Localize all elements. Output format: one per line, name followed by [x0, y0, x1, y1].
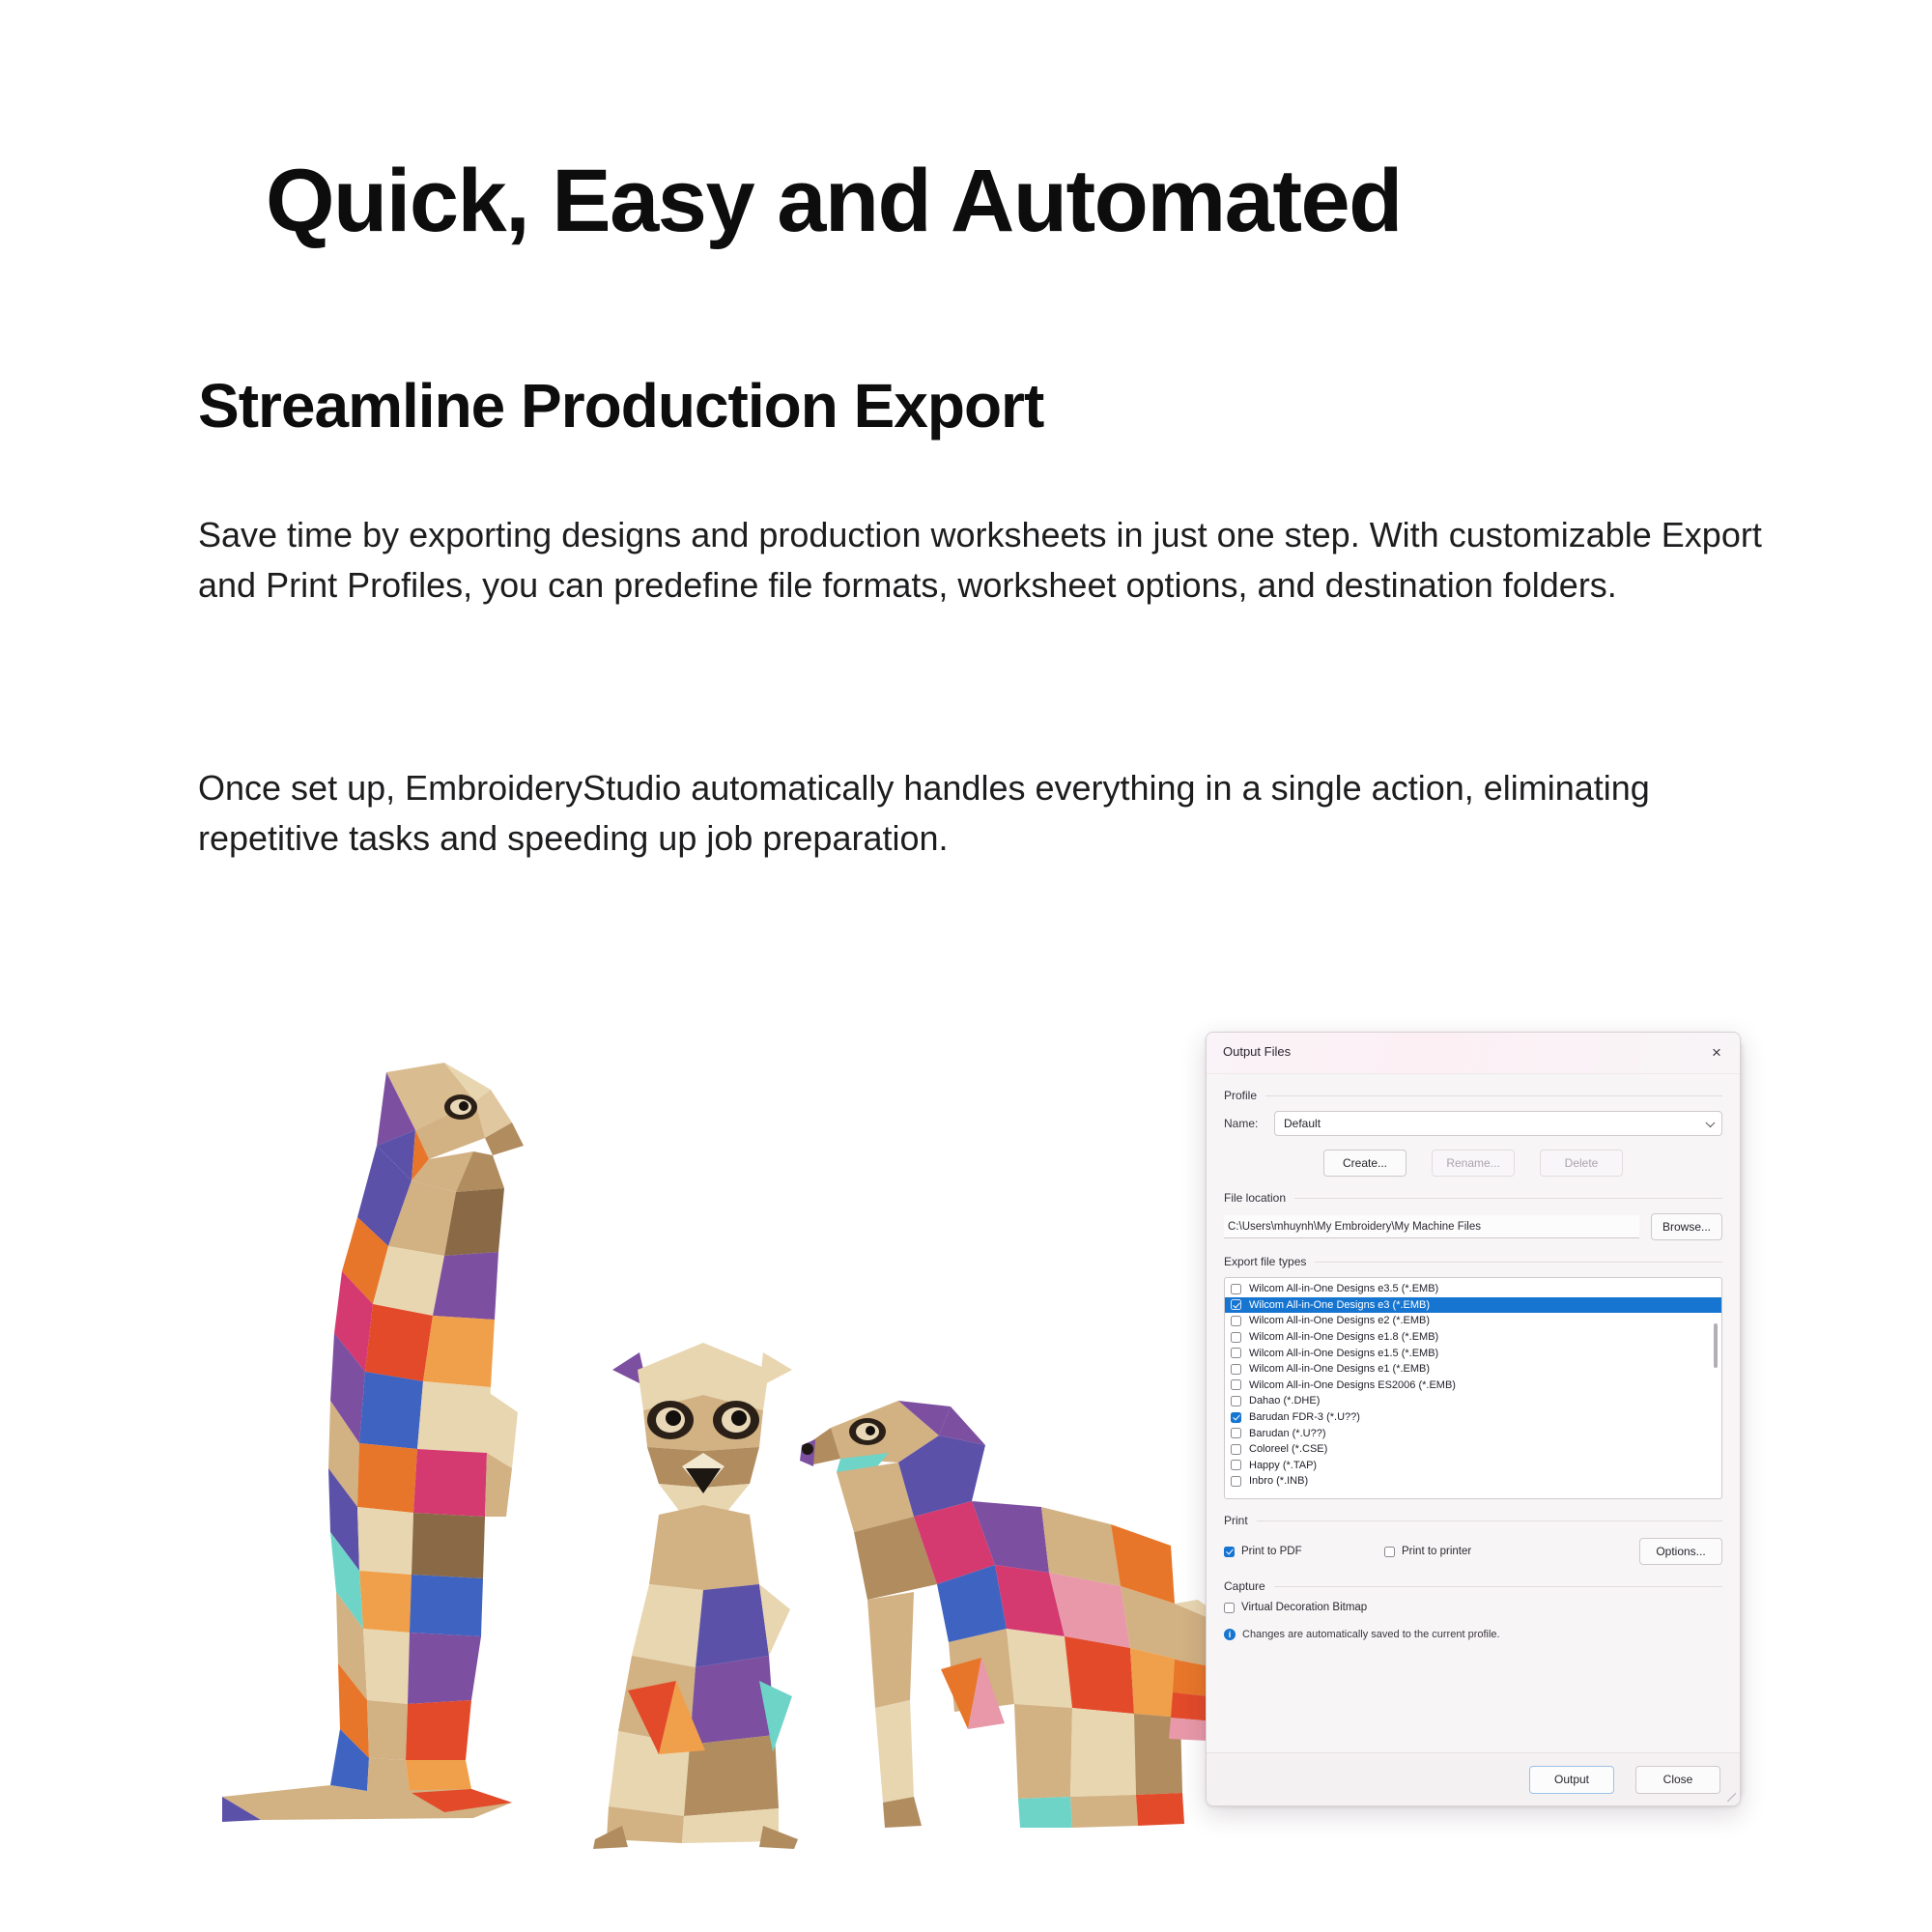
body-paragraph-2: Once set up, EmbroideryStudio automatica… [198, 763, 1773, 864]
print-to-printer-label: Print to printer [1402, 1546, 1471, 1557]
file-type-item[interactable]: Wilcom All-in-One Designs e3.5 (*.EMB) [1225, 1281, 1721, 1297]
file-type-label: Wilcom All-in-One Designs e1.8 (*.EMB) [1249, 1331, 1438, 1343]
file-type-label: Wilcom All-in-One Designs e1 (*.EMB) [1249, 1363, 1430, 1375]
checkbox-icon[interactable] [1231, 1396, 1241, 1406]
capture-group: Capture Virtual Decoration Bitmap [1224, 1579, 1722, 1613]
checkbox-icon [1384, 1547, 1395, 1557]
checkbox-checked-icon [1224, 1547, 1235, 1557]
scrollbar-thumb[interactable] [1714, 1323, 1718, 1368]
checkbox-icon[interactable] [1231, 1460, 1241, 1470]
file-type-label: Wilcom All-in-One Designs e3 (*.EMB) [1249, 1299, 1430, 1311]
print-to-printer-checkbox[interactable]: Print to printer [1384, 1546, 1639, 1557]
virtual-decoration-bitmap-label: Virtual Decoration Bitmap [1241, 1602, 1367, 1613]
virtual-decoration-bitmap-checkbox[interactable]: Virtual Decoration Bitmap [1224, 1602, 1722, 1613]
file-type-label: Happy (*.TAP) [1249, 1460, 1317, 1471]
dialog-title: Output Files [1223, 1044, 1291, 1059]
file-location-group-label: File location [1224, 1191, 1286, 1205]
file-type-label: Dahao (*.DHE) [1249, 1395, 1320, 1406]
browse-button[interactable]: Browse... [1651, 1213, 1722, 1240]
export-file-types-list: Wilcom All-in-One Designs e3.5 (*.EMB)Wi… [1225, 1278, 1721, 1498]
capture-group-header: Capture [1224, 1579, 1722, 1593]
file-type-label: Wilcom All-in-One Designs e1.5 (*.EMB) [1249, 1348, 1438, 1359]
export-file-types-group: Export file types Wilcom All-in-One Desi… [1224, 1255, 1722, 1499]
auto-save-note-text: Changes are automatically saved to the c… [1242, 1629, 1500, 1640]
page-title: Quick, Easy and Automated [266, 155, 1715, 248]
close-button[interactable]: Close [1635, 1766, 1720, 1794]
file-type-item[interactable]: Dahao (*.DHE) [1225, 1393, 1721, 1409]
print-to-pdf-label: Print to PDF [1241, 1546, 1302, 1557]
file-location-group: File location C:\Users\mhuynh\My Embroid… [1224, 1191, 1722, 1240]
file-type-item[interactable]: Coloreel (*.CSE) [1225, 1441, 1721, 1458]
checkbox-icon[interactable] [1231, 1284, 1241, 1294]
meerkat-standing [222, 1063, 524, 1822]
group-divider [1265, 1095, 1722, 1096]
profile-name-label: Name: [1224, 1117, 1264, 1130]
page-root: Quick, Easy and Automated Streamline Pro… [0, 0, 1932, 1932]
profile-name-row: Name: Default [1224, 1111, 1722, 1136]
checkbox-icon[interactable] [1231, 1348, 1241, 1358]
print-options-row: Print to PDF Print to printer Options... [1224, 1538, 1722, 1565]
profile-group: Profile Name: Default Create... Rename..… [1224, 1089, 1722, 1177]
file-type-item[interactable]: Inbro (*.INB) [1225, 1473, 1721, 1490]
checkbox-icon[interactable] [1231, 1379, 1241, 1390]
print-group-label: Print [1224, 1514, 1248, 1527]
checkbox-icon[interactable] [1231, 1332, 1241, 1343]
group-divider [1257, 1520, 1722, 1521]
chevron-down-icon [1706, 1118, 1716, 1127]
print-group-header: Print [1224, 1514, 1722, 1527]
listbox-scrollbar[interactable] [1711, 1281, 1719, 1495]
file-type-item[interactable]: Wilcom All-in-One Designs e1.8 (*.EMB) [1225, 1329, 1721, 1346]
file-type-item[interactable]: Barudan FDR-3 (*.U??) [1225, 1409, 1721, 1426]
file-type-item[interactable]: Wilcom All-in-One Designs ES2006 (*.EMB) [1225, 1378, 1721, 1394]
checkbox-icon[interactable] [1231, 1316, 1241, 1326]
close-icon[interactable]: × [1702, 1039, 1731, 1065]
resize-grip-icon[interactable] [1727, 1793, 1736, 1802]
profile-name-value: Default [1284, 1117, 1321, 1130]
print-to-pdf-checkbox[interactable]: Print to PDF [1224, 1546, 1384, 1557]
capture-group-label: Capture [1224, 1579, 1265, 1593]
profile-name-select[interactable]: Default [1274, 1111, 1722, 1136]
checkbox-icon[interactable] [1231, 1428, 1241, 1438]
profile-group-label: Profile [1224, 1089, 1257, 1102]
file-type-item[interactable]: Wilcom All-in-One Designs e1.5 (*.EMB) [1225, 1345, 1721, 1361]
checkbox-icon[interactable] [1231, 1444, 1241, 1455]
info-icon: i [1224, 1629, 1236, 1640]
file-location-row: C:\Users\mhuynh\My Embroidery\My Machine… [1224, 1213, 1722, 1240]
export-file-types-label: Export file types [1224, 1255, 1306, 1268]
file-type-item[interactable]: Happy (*.TAP) [1225, 1458, 1721, 1474]
file-type-label: Wilcom All-in-One Designs ES2006 (*.EMB) [1249, 1379, 1456, 1391]
file-type-item[interactable]: Wilcom All-in-One Designs e1 (*.EMB) [1225, 1361, 1721, 1378]
section-subheading: Streamline Production Export [198, 372, 1647, 440]
file-type-item[interactable]: Wilcom All-in-One Designs e2 (*.EMB) [1225, 1313, 1721, 1329]
export-file-types-header: Export file types [1224, 1255, 1722, 1268]
checkbox-checked-icon[interactable] [1231, 1412, 1241, 1423]
profile-group-header: Profile [1224, 1089, 1722, 1102]
file-type-label: Coloreel (*.CSE) [1249, 1443, 1327, 1455]
file-type-item[interactable]: Wilcom All-in-One Designs e3 (*.EMB) [1225, 1297, 1721, 1314]
file-location-input[interactable]: C:\Users\mhuynh\My Embroidery\My Machine… [1224, 1215, 1639, 1238]
file-type-label: Wilcom All-in-One Designs e2 (*.EMB) [1249, 1315, 1430, 1326]
output-button[interactable]: Output [1529, 1766, 1614, 1794]
body-paragraph-1: Save time by exporting designs and produ… [198, 510, 1773, 611]
file-type-label: Inbro (*.INB) [1249, 1475, 1308, 1487]
profile-buttons: Create... Rename... Delete [1224, 1150, 1722, 1177]
file-type-label: Wilcom All-in-One Designs e3.5 (*.EMB) [1249, 1283, 1438, 1294]
dialog-body: Profile Name: Default Create... Rename..… [1207, 1089, 1740, 1640]
file-type-label: Barudan (*.U??) [1249, 1428, 1326, 1439]
group-divider [1315, 1262, 1722, 1263]
create-profile-button[interactable]: Create... [1323, 1150, 1406, 1177]
group-divider [1294, 1198, 1722, 1199]
delete-profile-button[interactable]: Delete [1540, 1150, 1623, 1177]
auto-save-note: i Changes are automatically saved to the… [1224, 1629, 1722, 1640]
rename-profile-button[interactable]: Rename... [1432, 1150, 1515, 1177]
checkbox-icon [1224, 1603, 1235, 1613]
dialog-footer: Output Close [1207, 1752, 1740, 1805]
file-type-item[interactable]: Barudan (*.U??) [1225, 1425, 1721, 1441]
meerkat-embroidery-artwork [222, 1063, 1362, 1855]
output-files-dialog: Output Files × Profile Name: Default [1206, 1032, 1741, 1806]
dialog-titlebar: Output Files × [1207, 1033, 1740, 1074]
print-group: Print Print to PDF Print to printer Opti… [1224, 1514, 1722, 1565]
print-options-button[interactable]: Options... [1639, 1538, 1722, 1565]
checkbox-checked-icon[interactable] [1231, 1299, 1241, 1310]
group-divider [1274, 1586, 1722, 1587]
file-location-group-header: File location [1224, 1191, 1722, 1205]
meerkat-sitting [593, 1343, 798, 1849]
checkbox-icon[interactable] [1231, 1364, 1241, 1375]
file-type-label: Barudan FDR-3 (*.U??) [1249, 1411, 1360, 1423]
export-file-types-listbox[interactable]: Wilcom All-in-One Designs e3.5 (*.EMB)Wi… [1224, 1277, 1722, 1499]
checkbox-icon[interactable] [1231, 1476, 1241, 1487]
